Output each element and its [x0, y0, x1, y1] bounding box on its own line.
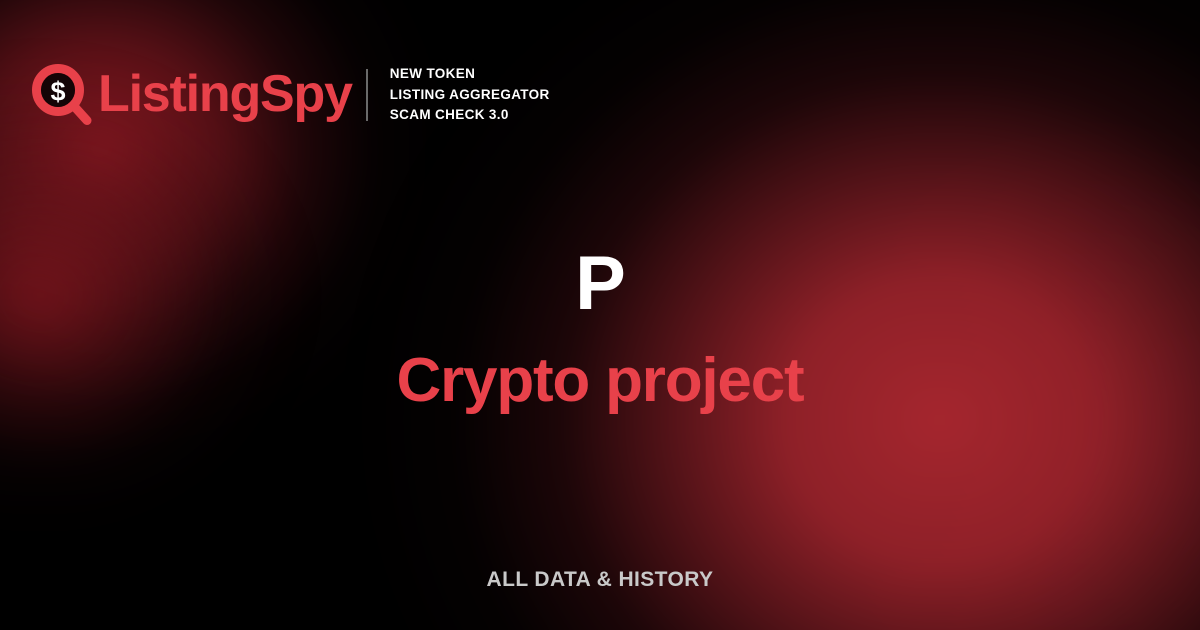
header-divider — [366, 69, 368, 121]
token-title: Crypto project — [0, 350, 1200, 412]
og-preview-card: $ ListingSpy NEW TOKEN LISTING AGGREGATO… — [0, 0, 1200, 630]
tagline-line-2: LISTING AGGREGATOR — [390, 85, 550, 106]
tagline-line-3: SCAM CHECK 3.0 — [390, 105, 550, 126]
brand-wordmark: ListingSpy — [98, 68, 352, 120]
token-symbol: P — [0, 246, 1200, 322]
brand-header: $ ListingSpy NEW TOKEN LISTING AGGREGATO… — [32, 52, 550, 138]
magnifier-dollar-icon: $ — [32, 64, 92, 126]
footer-caption: ALL DATA & HISTORY — [0, 568, 1200, 592]
brand-tagline: NEW TOKEN LISTING AGGREGATOR SCAM CHECK … — [390, 64, 550, 126]
svg-text:$: $ — [50, 77, 65, 107]
token-hero: P Crypto project — [0, 246, 1200, 412]
tagline-line-1: NEW TOKEN — [390, 64, 550, 85]
